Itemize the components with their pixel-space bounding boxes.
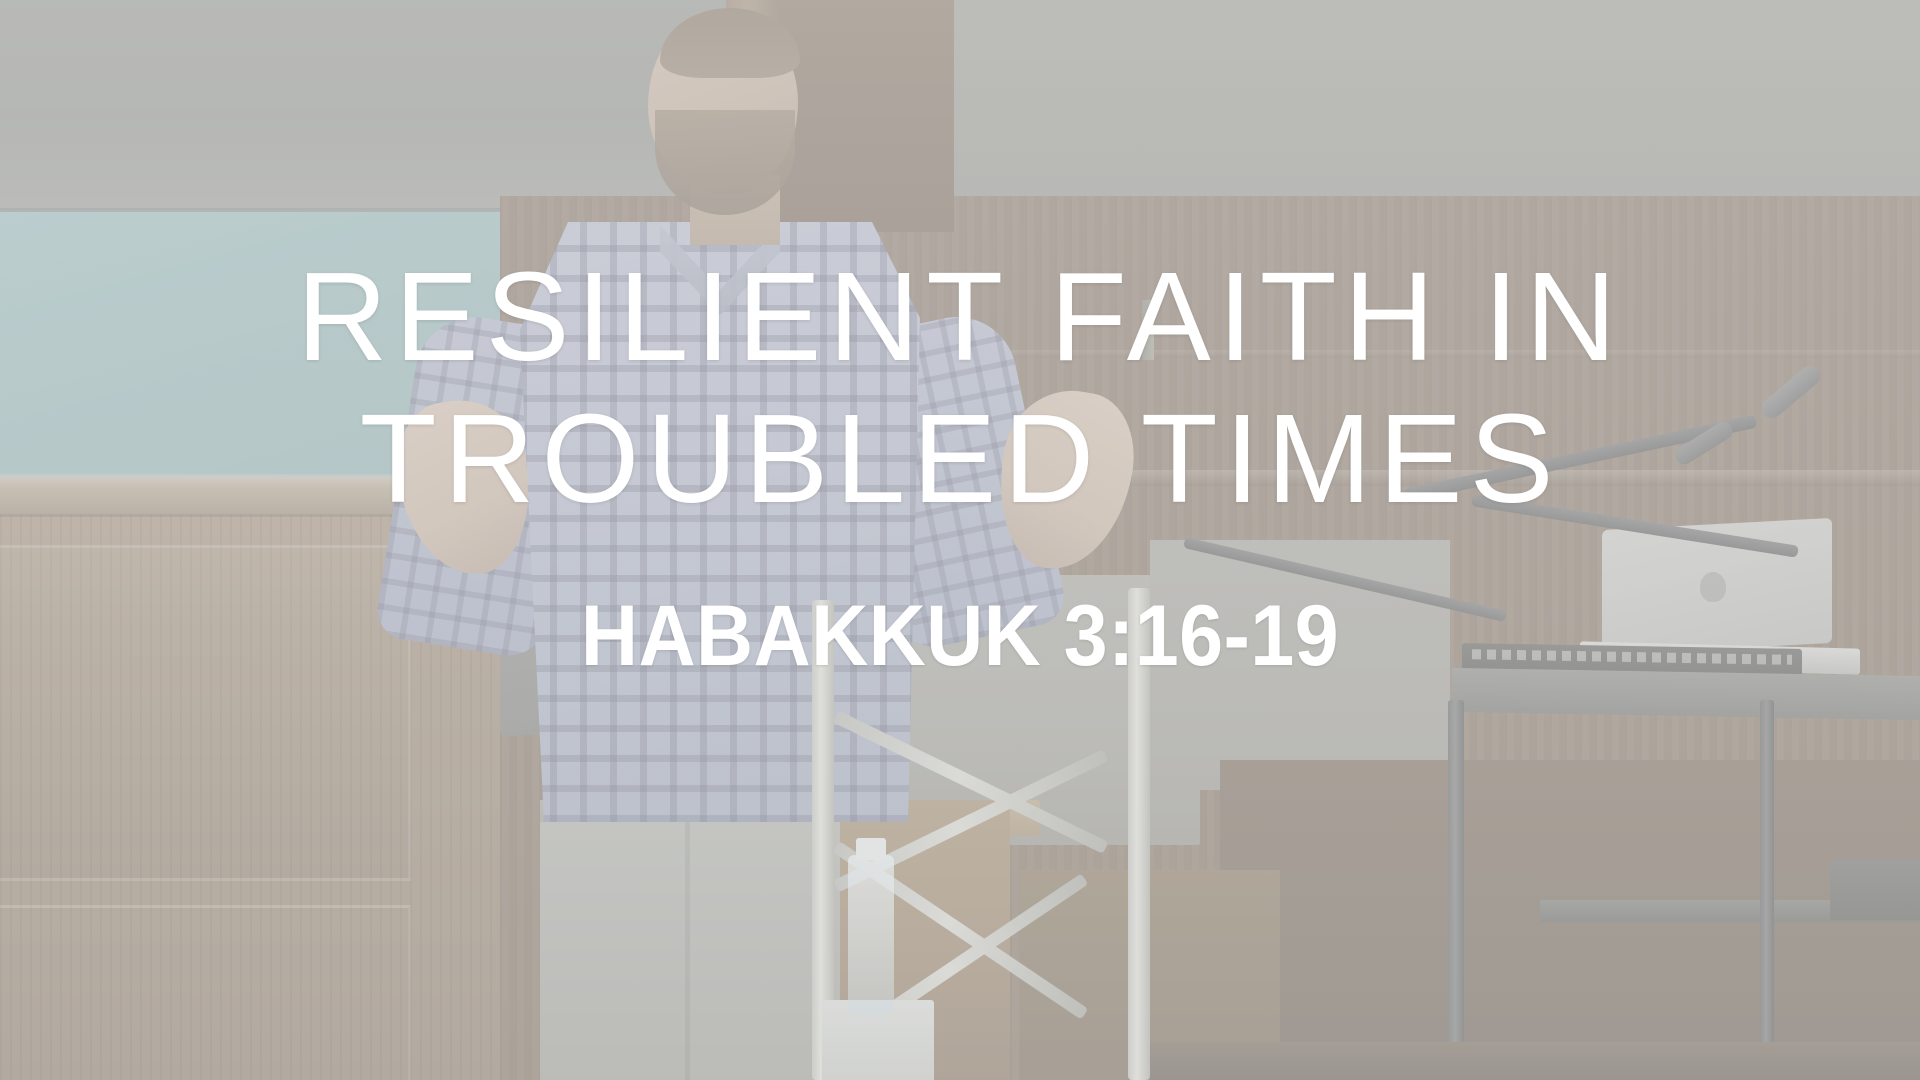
- sermon-title-line-2: TROUBLED TIMES: [220, 388, 1700, 530]
- sermon-title-slide: RESILIENT FAITH IN TROUBLED TIMES HABAKK…: [0, 0, 1920, 1080]
- sermon-title-line-1: RESILIENT FAITH IN: [220, 246, 1700, 388]
- sermon-title: RESILIENT FAITH IN TROUBLED TIMES: [220, 246, 1700, 531]
- title-text-layer: RESILIENT FAITH IN TROUBLED TIMES HABAKK…: [0, 0, 1920, 1080]
- scripture-reference: HABAKKUK 3:16-19: [279, 593, 1641, 679]
